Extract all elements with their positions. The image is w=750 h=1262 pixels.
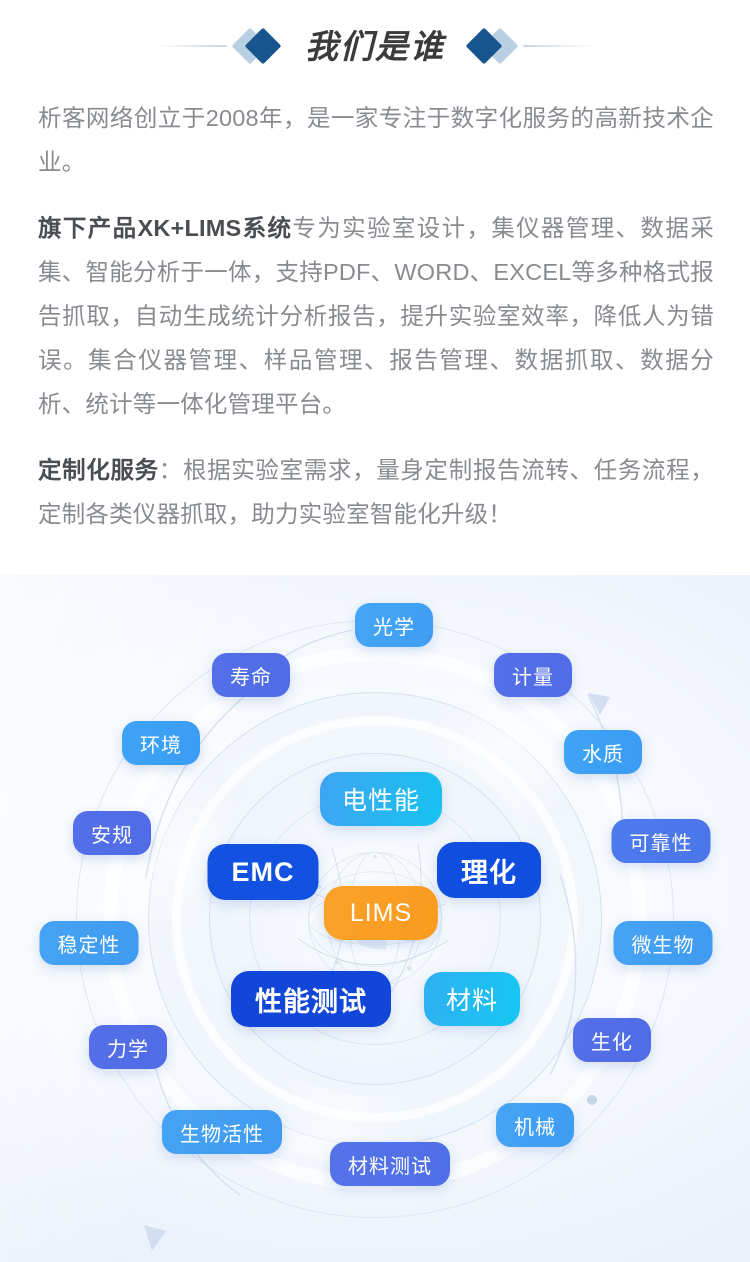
tag-pill[interactable]: 寿命 — [212, 653, 290, 697]
tag-pill[interactable]: 水质 — [564, 730, 642, 774]
diamond-pair-left-icon — [235, 26, 291, 66]
tag-pill[interactable]: 材料测试 — [330, 1142, 450, 1186]
tag-pill[interactable]: LIMS — [324, 886, 438, 940]
tag-pill[interactable]: 计量 — [494, 653, 572, 697]
diamond-pair-right-icon — [459, 26, 515, 66]
capability-diagram: 光学计量水质可靠性微生物生化机械材料测试生物活性力学稳定性安规环境寿命电性能EM… — [0, 575, 750, 1262]
tag-pill[interactable]: 理化 — [437, 842, 541, 898]
tag-pill[interactable]: 生物活性 — [162, 1110, 282, 1154]
tag-pill[interactable]: 性能测试 — [231, 971, 391, 1027]
tag-pill[interactable]: 稳定性 — [40, 921, 139, 965]
paragraph-3: 定制化服务：根据实验室需求，量身定制报告流转、任务流程，定制各类仪器抓取，助力实… — [38, 448, 714, 536]
paragraph-3-lead: 定制化服务 — [38, 457, 159, 483]
tag-pill[interactable]: EMC — [208, 844, 319, 900]
tag-pill[interactable]: 安规 — [73, 811, 151, 855]
tag-pill[interactable]: 可靠性 — [612, 819, 711, 863]
section-header: 我们是谁 — [0, 0, 750, 92]
paragraph-2-text: 专为实验室设计，集仪器管理、数据采集、智能分析于一体，支持PDF、WORD、EX… — [38, 215, 714, 417]
header-rule-right — [523, 45, 595, 47]
tag-pill[interactable]: 微生物 — [614, 921, 713, 965]
paragraph-1: 析客网络创立于2008年，是一家专注于数字化服务的高新技术企业。 — [38, 96, 714, 184]
tag-pill[interactable]: 机械 — [496, 1103, 574, 1147]
tag-pill[interactable]: 力学 — [89, 1025, 167, 1069]
page-title: 我们是谁 — [299, 30, 451, 63]
paragraph-1-text: 析客网络创立于2008年，是一家专注于数字化服务的高新技术企业。 — [38, 105, 714, 175]
tag-pill[interactable]: 材料 — [424, 972, 520, 1026]
tag-pill[interactable]: 电性能 — [320, 772, 442, 826]
intro-copy: 析客网络创立于2008年，是一家专注于数字化服务的高新技术企业。 旗下产品XK+… — [38, 96, 714, 536]
paragraph-2-lead: 旗下产品XK+LIMS系统 — [38, 215, 292, 241]
promo-page: 我们是谁 析客网络创立于2008年，是一家专注于数字化服务的高新技术企业。 旗下… — [0, 0, 750, 1262]
paragraph-2: 旗下产品XK+LIMS系统专为实验室设计，集仪器管理、数据采集、智能分析于一体，… — [38, 206, 714, 426]
header-rule-left — [155, 45, 227, 47]
tag-pill[interactable]: 生化 — [573, 1018, 651, 1062]
tag-pill[interactable]: 光学 — [355, 603, 433, 647]
tag-pill[interactable]: 环境 — [122, 721, 200, 765]
